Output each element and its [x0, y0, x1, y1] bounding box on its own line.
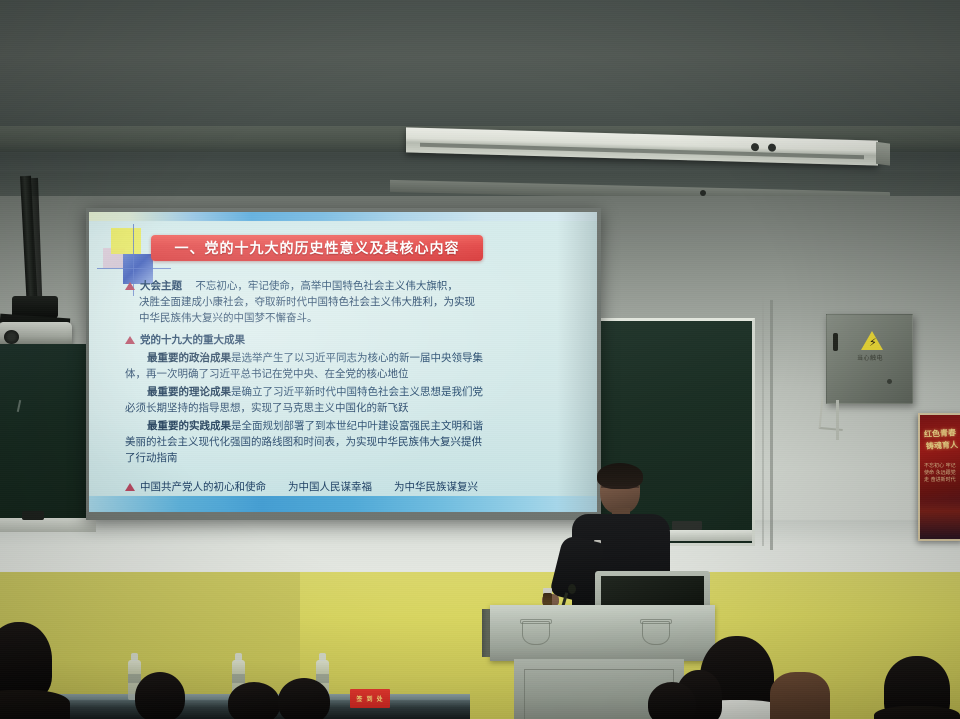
bullet-2-head: 党的十九大的重大成果	[140, 332, 245, 348]
audience-shoulders	[0, 690, 70, 719]
lecture-hall-photo: ⚡ 当心触电 红色青春 铸魂育人 不忘初心 牢记使命 永远跟党走 奋进新时代 一…	[0, 0, 960, 719]
microphone-head-icon	[568, 584, 576, 594]
paragraph-political-lead: 最重要的政治成果	[147, 352, 231, 364]
eraser-left	[22, 511, 44, 520]
ceiling	[0, 0, 960, 200]
audience-shoulders	[770, 672, 830, 719]
deco-horizontal-line	[97, 268, 171, 269]
triangle-bullet-icon	[125, 483, 135, 491]
podium-urn-motif-right	[642, 621, 670, 645]
chalk-tray-left	[0, 518, 96, 532]
paragraph-practice-rest: 是全面规划部署了到本世纪中叶建设富强民主文明和谐	[231, 420, 483, 432]
paragraph-theory: 最重要的理论成果是确立了习近平新时代中国特色社会主义思想是我们党	[125, 384, 577, 400]
poster-subtitle: 铸魂育人	[926, 440, 960, 452]
final-segment-3: 为中华民族谋复兴	[394, 479, 478, 495]
eraser-right	[672, 521, 702, 530]
wall-white-band	[0, 520, 960, 578]
light-fixture-dot-right	[768, 144, 776, 152]
slide-bottom-gradient-band	[89, 496, 597, 512]
slide-body: 大会主题 不忘初心，牢记使命，高举中国特色社会主义伟大旗帜， 决胜全面建成小康社…	[125, 272, 577, 495]
bullet-1-cont-2: 中华民族伟大复兴的中国梦不懈奋斗。	[139, 310, 577, 326]
wall-seam-secondary	[762, 296, 764, 546]
audience-head	[278, 678, 330, 719]
desk-nameplate: 签 到 处	[350, 689, 390, 708]
projector-lens-icon	[4, 330, 19, 344]
slide-final-line: 中国共产党人的初心和使命 为中国人民谋幸福 为中华民族谋复兴	[125, 479, 577, 495]
audience-head	[648, 682, 696, 719]
audience-head	[135, 672, 185, 719]
wall-poster: 红色青春 铸魂育人 不忘初心 牢记使命 永远跟党走 奋进新时代	[918, 413, 960, 541]
final-segment-2: 为中国人民谋幸福	[288, 479, 372, 495]
podium-top-panel	[490, 605, 715, 661]
bullet-1-head: 大会主题	[140, 280, 182, 292]
panel-handle[interactable]	[833, 333, 838, 351]
deco-yellow-square	[111, 228, 141, 254]
slide-title-banner: 一、党的十九大的历史性意义及其核心内容	[151, 235, 483, 261]
nameplate-text: 签 到 处	[356, 694, 383, 703]
paragraph-theory-more: 必须长期坚持的指导思想，实现了马克思主义中国化的新飞跃	[125, 400, 577, 416]
panel-screw	[887, 379, 892, 384]
triangle-bullet-icon	[125, 336, 135, 344]
bullet-1-cont-1: 决胜全面建成小康社会，夺取新时代中国特色社会主义伟大胜利，为实现	[139, 294, 577, 310]
paragraph-political-rest: 是选举产生了以习近平同志为核心的新一届中央领导集	[231, 352, 483, 364]
electrical-conduit	[836, 400, 839, 440]
panel-warning-label: 当心触电	[857, 353, 883, 362]
triangle-bullet-icon	[125, 282, 135, 290]
speaker-glasses-icon	[601, 486, 639, 495]
poster-title: 红色青春	[924, 428, 958, 440]
slide-bullet-1: 大会主题 不忘初心，牢记使命，高举中国特色社会主义伟大旗帜，	[125, 278, 577, 294]
slide-bullet-2: 党的十九大的重大成果	[125, 332, 577, 348]
lightning-bolt-icon: ⚡	[869, 337, 877, 348]
slide-top-gradient-band	[89, 212, 597, 221]
electrical-wire	[819, 397, 846, 431]
wall-seam	[770, 300, 773, 550]
audience-head	[228, 682, 280, 719]
paragraph-practice-more: 美丽的社会主义现代化强国的路线图和时间表，为实现中华民族伟大复兴提供	[125, 434, 577, 450]
audience-shoulders	[874, 706, 960, 719]
light-fixture-dot-left	[751, 143, 759, 151]
light-fixture-end-cap	[876, 142, 890, 166]
paragraph-political-more: 体，再一次明确了习近平总书记在党中央、在全党的核心地位	[125, 366, 577, 382]
paragraph-theory-lead: 最重要的理论成果	[147, 386, 231, 398]
blackboard-left	[0, 344, 96, 530]
electrical-panel-box[interactable]: ⚡ 当心触电	[826, 314, 913, 404]
paragraph-practice-lead: 最重要的实践成果	[147, 420, 231, 432]
slide-title-text: 一、党的十九大的历史性意义及其核心内容	[175, 238, 460, 258]
paragraph-practice: 最重要的实践成果是全面规划部署了到本世纪中叶建设富强民主文明和谐	[125, 418, 577, 434]
final-segment-1: 中国共产党人的初心和使命	[140, 479, 266, 495]
paragraph-practice-more2: 了行动指南	[125, 450, 577, 466]
paragraph-theory-rest: 是确立了习近平新时代中国特色社会主义思想是我们党	[231, 386, 483, 398]
podium-urn-motif-left	[522, 621, 550, 645]
poster-illustration	[920, 499, 960, 539]
chalk-mark	[17, 400, 21, 412]
bullet-1-tail: 不忘初心，牢记使命，高举中国特色社会主义伟大旗帜，	[195, 280, 458, 292]
projection-screen: 一、党的十九大的历史性意义及其核心内容 大会主题 不忘初心，牢记使命，高举中国特…	[89, 212, 597, 512]
poster-body-text: 不忘初心 牢记使命 永远跟党走 奋进新时代	[924, 463, 958, 484]
paragraph-political: 最重要的政治成果是选举产生了以习近平同志为核心的新一届中央领导集	[125, 350, 577, 366]
